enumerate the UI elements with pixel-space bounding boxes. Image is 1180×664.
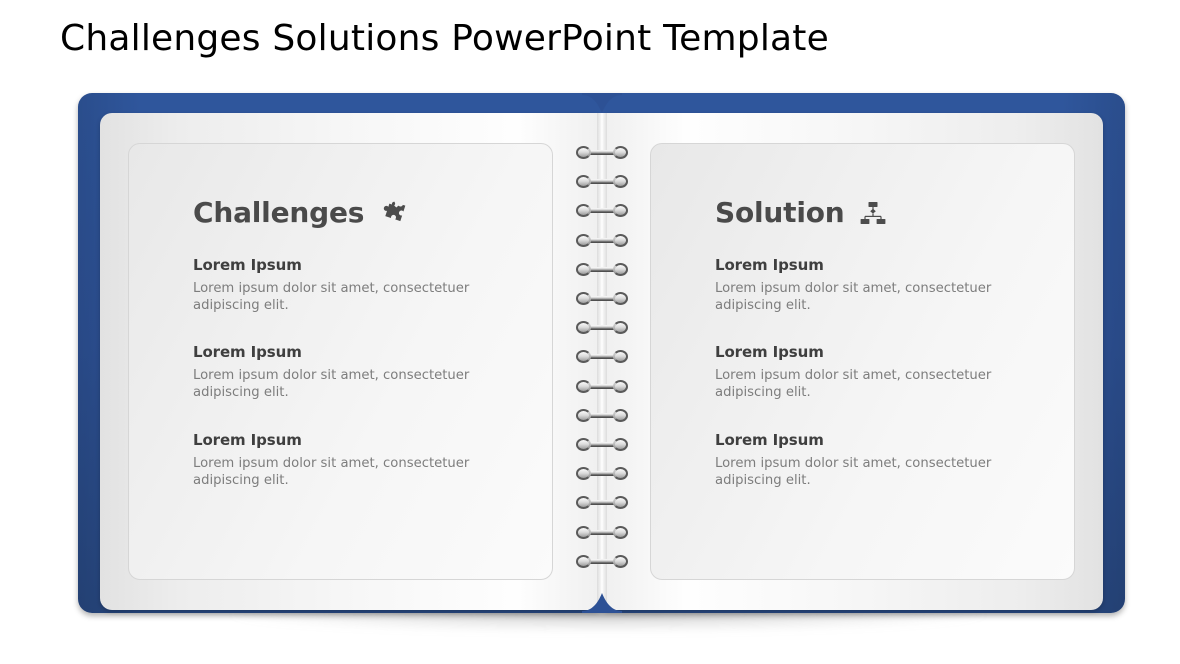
block-body: Lorem ipsum dolor sit amet, consectetuer… bbox=[193, 367, 511, 401]
block-title: Lorem Ipsum bbox=[193, 256, 518, 274]
block-title: Lorem Ipsum bbox=[715, 343, 1040, 361]
block-title: Lorem Ipsum bbox=[715, 256, 1040, 274]
block-body: Lorem ipsum dolor sit amet, consectetuer… bbox=[715, 455, 1033, 489]
content-block: Lorem Ipsum Lorem ipsum dolor sit amet, … bbox=[193, 256, 518, 314]
block-list-solution: Lorem Ipsum Lorem ipsum dolor sit amet, … bbox=[715, 256, 1040, 489]
content-block: Lorem Ipsum Lorem ipsum dolor sit amet, … bbox=[715, 343, 1040, 401]
block-body: Lorem ipsum dolor sit amet, consectetuer… bbox=[193, 455, 511, 489]
block-title: Lorem Ipsum bbox=[193, 343, 518, 361]
column-heading-label: Solution bbox=[715, 196, 845, 229]
block-title: Lorem Ipsum bbox=[193, 431, 518, 449]
block-list-challenges: Lorem Ipsum Lorem ipsum dolor sit amet, … bbox=[193, 256, 518, 489]
block-body: Lorem ipsum dolor sit amet, consectetuer… bbox=[715, 280, 1033, 314]
content-block: Lorem Ipsum Lorem ipsum dolor sit amet, … bbox=[193, 431, 518, 489]
book-diagram: Challenges Lorem Ipsum Lorem ipsum dolor… bbox=[78, 93, 1125, 613]
content-block: Lorem Ipsum Lorem ipsum dolor sit amet, … bbox=[715, 431, 1040, 489]
column-heading-challenges: Challenges bbox=[193, 196, 406, 229]
hierarchy-flowchart-icon bbox=[859, 199, 887, 227]
spine-notch-bottom bbox=[582, 589, 622, 613]
page-title: Challenges Solutions PowerPoint Template bbox=[60, 18, 829, 59]
block-body: Lorem ipsum dolor sit amet, consectetuer… bbox=[715, 367, 1033, 401]
column-heading-label: Challenges bbox=[193, 196, 364, 229]
puzzle-piece-icon bbox=[378, 199, 406, 227]
book-spine-seam bbox=[597, 113, 607, 610]
spine-notch-top bbox=[582, 93, 622, 117]
content-block: Lorem Ipsum Lorem ipsum dolor sit amet, … bbox=[715, 256, 1040, 314]
block-title: Lorem Ipsum bbox=[715, 431, 1040, 449]
block-body: Lorem ipsum dolor sit amet, consectetuer… bbox=[193, 280, 511, 314]
content-block: Lorem Ipsum Lorem ipsum dolor sit amet, … bbox=[193, 343, 518, 401]
column-heading-solution: Solution bbox=[715, 196, 887, 229]
